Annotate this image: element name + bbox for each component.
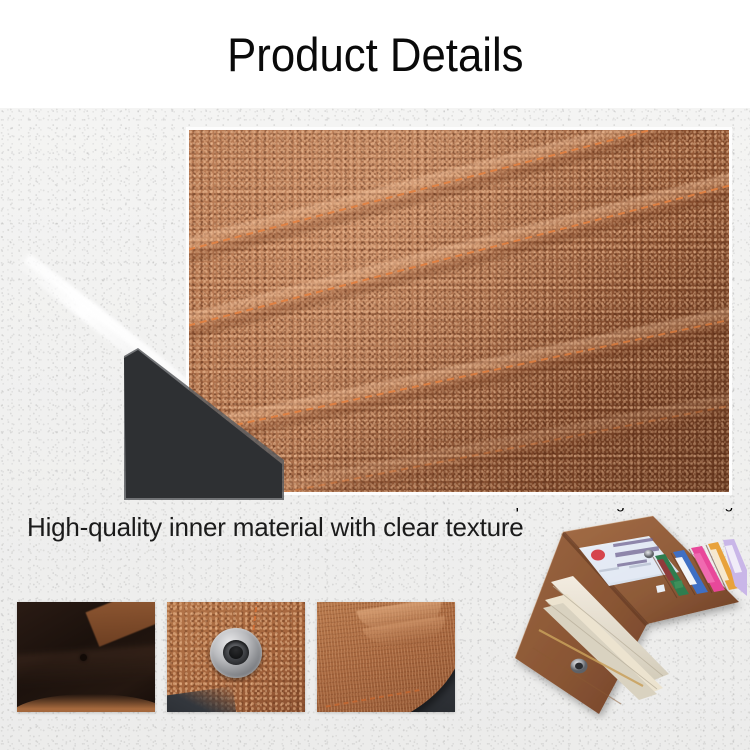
wallet-product-photo[interactable]: Open brown long wallet showing ID window…	[503, 508, 747, 720]
hero-shading-overlay	[189, 130, 729, 492]
thumbnail-dark-lining[interactable]: Dark fabric lining inside the wallet	[17, 602, 155, 712]
page-title: Product Details	[227, 31, 523, 78]
page-header: Product Details	[0, 0, 750, 108]
wallet-snap-button	[571, 659, 588, 674]
hero-material-photo[interactable]: Close-up of brown canvas inner lining wi…	[186, 127, 732, 495]
thumbnail-snap-button[interactable]: Silver metal snap button on brown leathe…	[167, 602, 305, 712]
wallet-inner-snap-icon	[644, 550, 654, 558]
wallet-alt-text: Open brown long wallet showing ID window…	[503, 508, 747, 512]
product-details-page: Product Details	[0, 0, 750, 750]
material-caption: High-quality inner material with clear t…	[27, 503, 537, 551]
snap-button-icon	[210, 628, 262, 678]
id-emblem-icon	[591, 550, 605, 561]
thumbnail-canvas-edge[interactable]: Brown canvas edge with stitching on dark…	[317, 602, 455, 712]
